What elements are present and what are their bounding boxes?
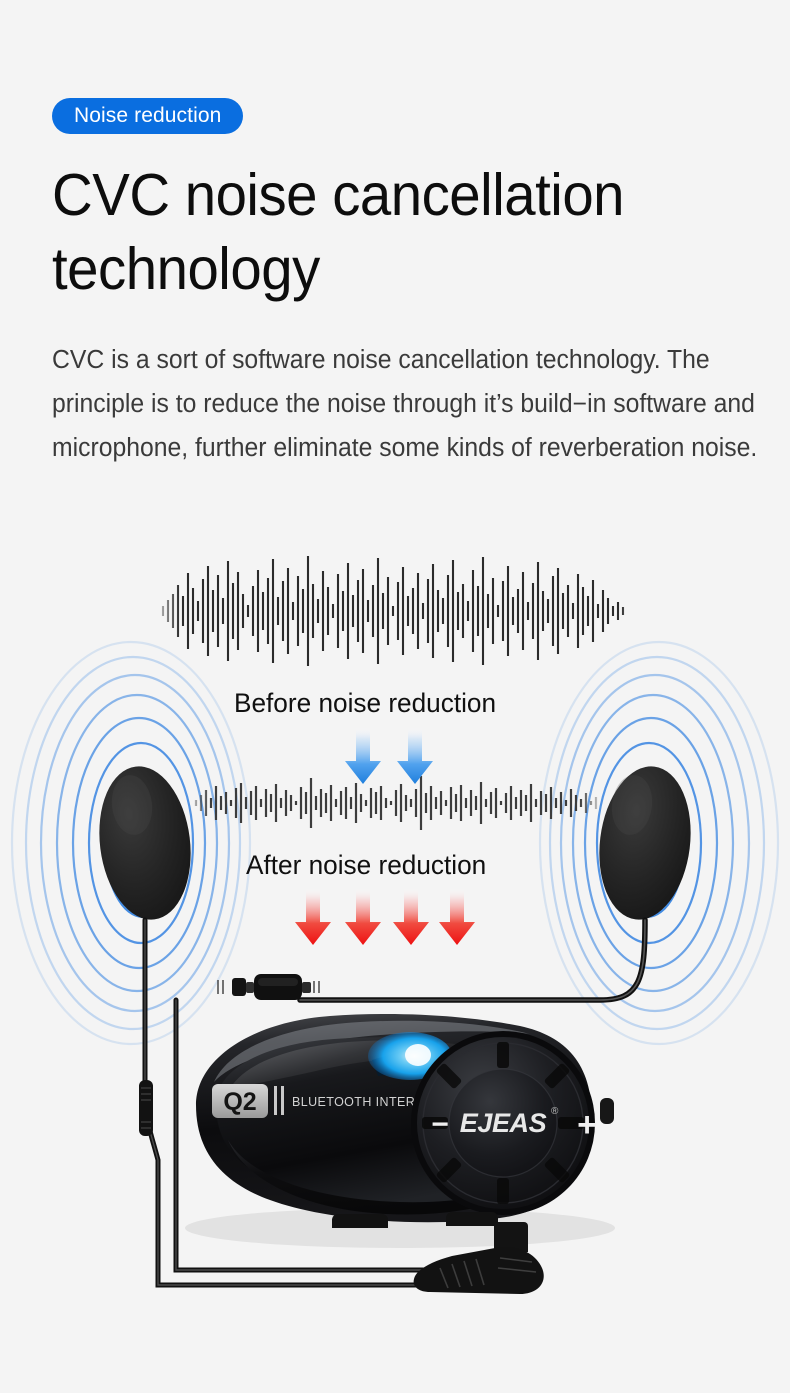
arrows-red bbox=[295, 888, 475, 945]
intercom-device: Q2 BLUETOOTH INTERCOM bbox=[185, 1014, 615, 1248]
device-model-text: Q2 bbox=[223, 1088, 256, 1116]
cable-connector bbox=[218, 974, 319, 1000]
brand-registered-mark: ® bbox=[551, 1106, 559, 1117]
volume-up-label: + bbox=[577, 1106, 597, 1144]
waveform-after bbox=[196, 776, 596, 830]
volume-down-label: − bbox=[431, 1108, 449, 1141]
cable-inline-module bbox=[139, 1080, 153, 1136]
product-feature-page: Noise reduction CVC noise cancellation t… bbox=[0, 0, 790, 1393]
label-before-noise-reduction: Before noise reduction bbox=[234, 688, 496, 718]
label-after-noise-reduction: After noise reduction bbox=[246, 850, 486, 880]
arrows-blue bbox=[345, 727, 433, 784]
waveform-before bbox=[163, 556, 623, 666]
brand-text: EJEAS bbox=[460, 1108, 547, 1138]
